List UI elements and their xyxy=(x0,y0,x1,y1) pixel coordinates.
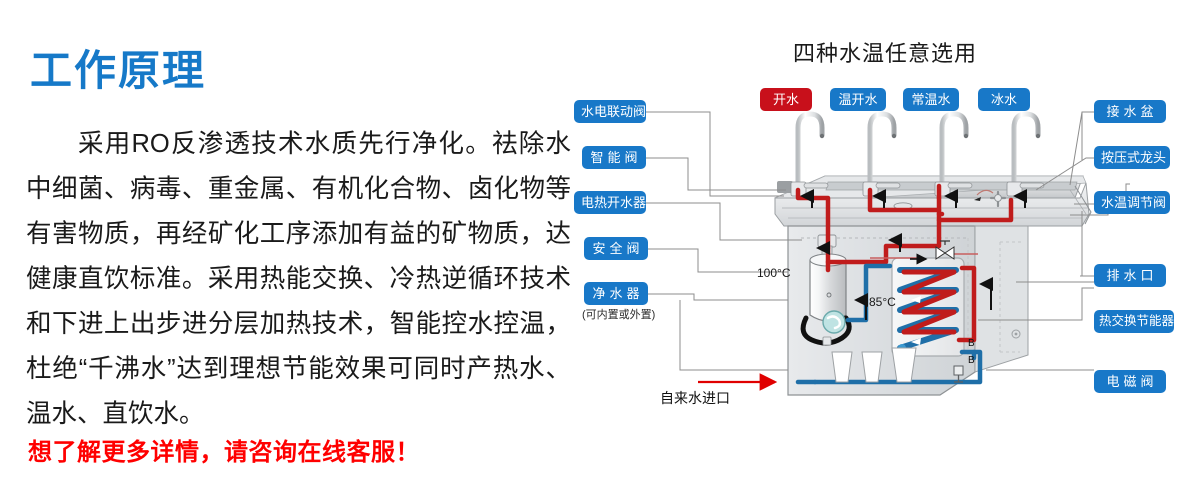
description-paragraph: 采用RO反渗透技术水质先行净化。祛除水中细菌、病毒、重金属、有机化合物、卤化物等… xyxy=(26,122,571,437)
page-title: 工作原理 xyxy=(30,50,206,92)
component-label-temperature-regulating-valve[interactable]: 水温调节阀 xyxy=(1094,191,1170,214)
component-label-press-faucet[interactable]: 按压式龙头 xyxy=(1094,146,1170,169)
water-inlet-label: 自来水进口 xyxy=(660,388,730,408)
faucet-group xyxy=(798,114,1038,185)
heat-exchanger xyxy=(892,258,964,356)
left-leader-lines xyxy=(622,112,802,370)
component-label-solenoid-valve[interactable]: 电磁阀 xyxy=(1094,370,1166,393)
left-content-panel: 工作原理 采用RO反渗透技术水质先行净化。祛除水中细菌、病毒、重金属、有机化合物… xyxy=(0,0,580,497)
component-label-smart-valve[interactable]: 智能阀 xyxy=(582,146,646,169)
water-mode-badge-hot[interactable]: 开水 xyxy=(760,88,812,111)
temperature-label-100c: 100°C xyxy=(757,266,791,280)
port-mark-b-lower: B xyxy=(968,355,975,366)
component-label-safety-valve[interactable]: 安全阀 xyxy=(584,237,648,260)
water-mode-badge-ambient[interactable]: 常温水 xyxy=(903,88,959,111)
customer-service-cta[interactable]: 想了解更多详情，请咨询在线客服！ xyxy=(28,432,420,467)
faucet-tips xyxy=(820,134,1040,138)
component-label-water-basin[interactable]: 接水盆 xyxy=(1094,100,1166,123)
water-purifier-note: (可内置或外置) xyxy=(582,306,655,322)
cup-row xyxy=(832,348,916,382)
temperature-label-85c: 85°C xyxy=(869,295,896,309)
component-label-drain-outlet[interactable]: 排水口 xyxy=(1094,264,1166,287)
component-label-power-water-linkage-valve[interactable]: 水电联动阀 xyxy=(574,100,646,123)
diagram-panel: 四种水温任意选用 xyxy=(570,0,1200,497)
component-label-electric-boiler[interactable]: 电热开水器 xyxy=(574,191,646,214)
water-mode-badge-iced[interactable]: 冰水 xyxy=(978,88,1030,111)
component-label-water-purifier[interactable]: 净水器 xyxy=(584,282,648,305)
water-dispenser-illustration xyxy=(570,0,1200,497)
port-mark-b-upper: B xyxy=(968,338,975,349)
water-mode-badge-warm[interactable]: 温开水 xyxy=(830,88,886,111)
component-label-heat-exchange-energy-saver[interactable]: 热交换节能器 xyxy=(1094,310,1174,333)
